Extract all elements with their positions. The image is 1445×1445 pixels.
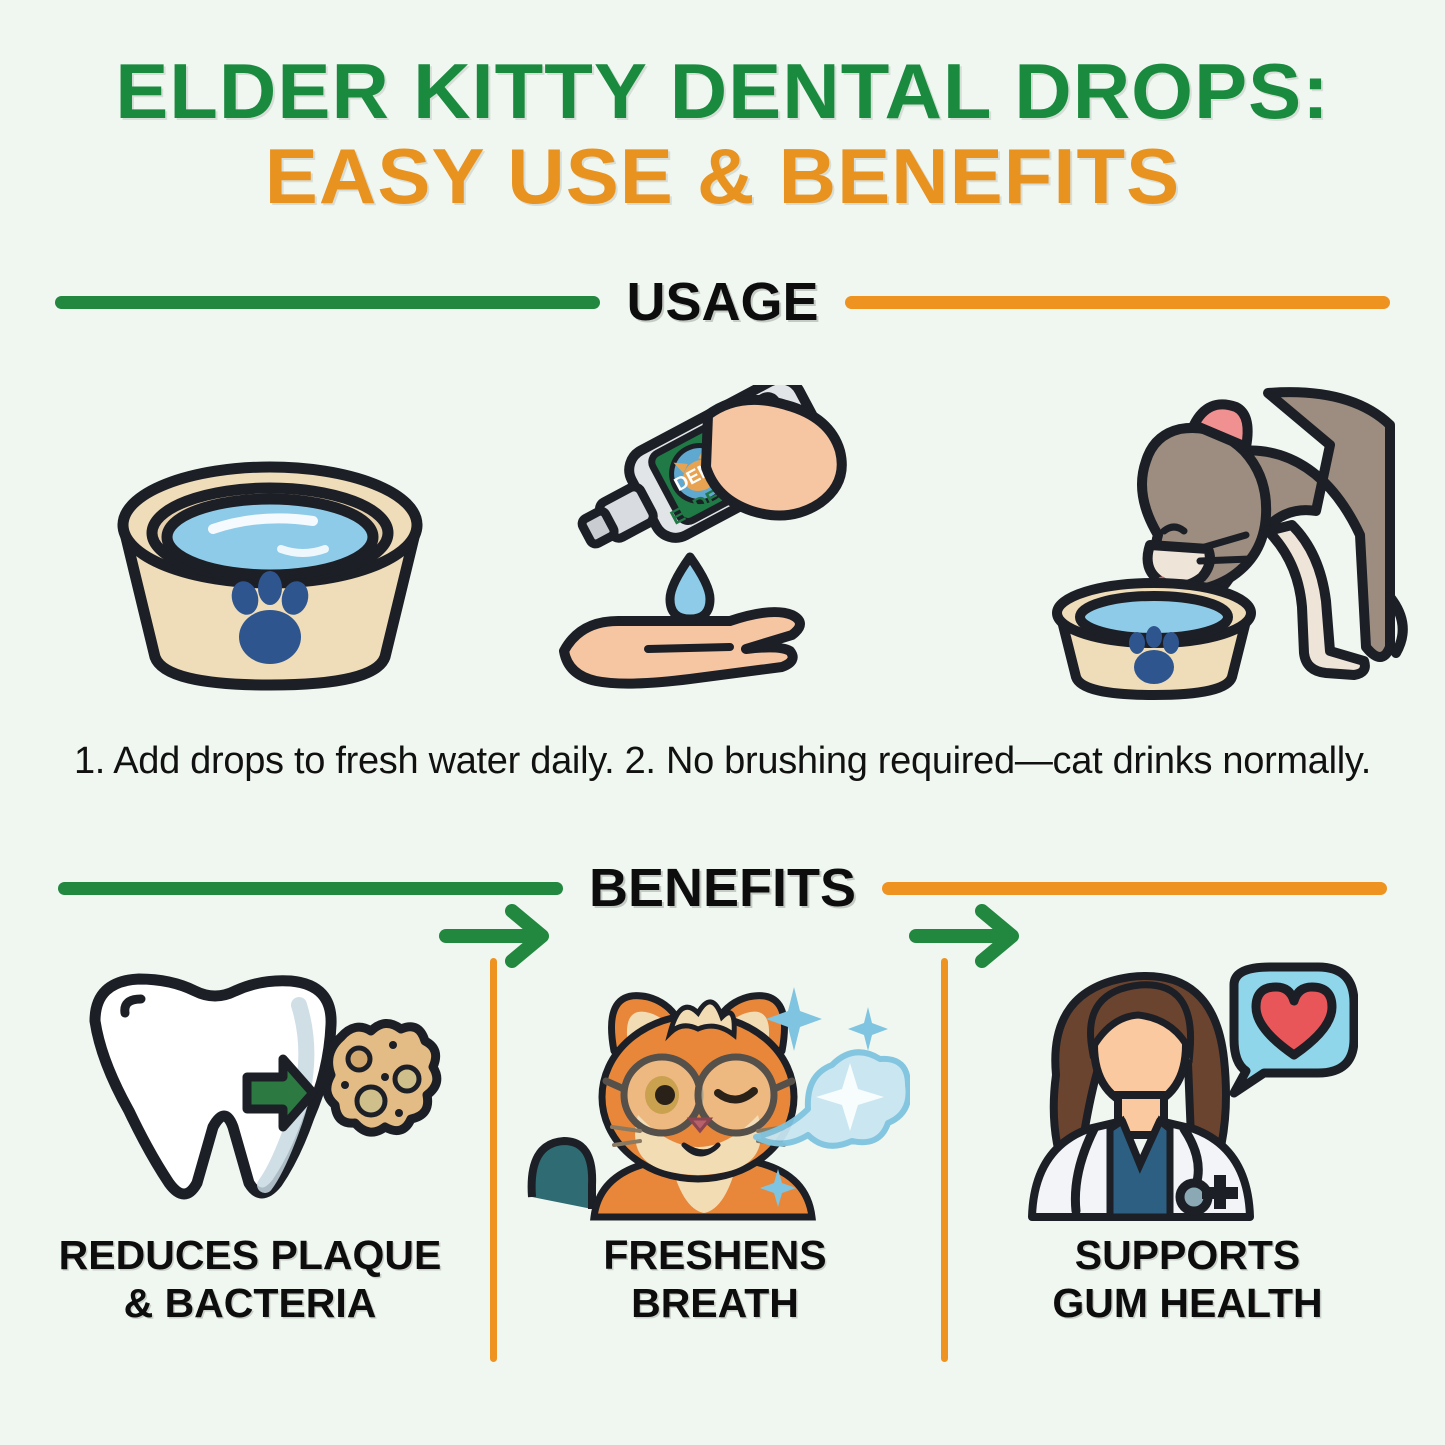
usage-rule-right [845,296,1390,309]
benefit-art-2 [520,955,910,1225]
benefit-freshens-breath: FRESHENS BREATH [500,955,930,1365]
usage-steps-row: DENTAL DROPS 30ml ELDER KITTY [0,385,1445,715]
benefits-rule-left [58,882,563,895]
open-palm-icon [564,612,800,683]
benefit-label-2: FRESHENS BREATH [603,1231,826,1328]
usage-step-cat-drinks [1030,385,1420,715]
benefit-reduces-plaque: REDUCES PLAQUE & BACTERIA [30,955,470,1365]
benefits-heading: BENEFITS [563,861,882,915]
usage-step-apply-drops: DENTAL DROPS 30ml ELDER KITTY [540,385,880,715]
benefit-label-1-line2: & BACTERIA [59,1279,442,1327]
benefit-label-2-line1: FRESHENS [603,1231,826,1279]
title-line-secondary: EASY USE & BENEFITS [0,130,1445,222]
cat-with-glasses-fresh-breath-icon [520,959,910,1221]
benefit-label-1-line1: REDUCES PLAQUE [59,1231,442,1279]
usage-rule-left [55,296,600,309]
usage-section-header: USAGE [0,272,1445,332]
benefit-label-2-line2: BREATH [603,1279,826,1327]
cat-drinking-from-bowl-illustration [1030,385,1420,715]
page-title: ELDER KITTY DENTAL DROPS: EASY USE & BEN… [0,52,1445,222]
benefits-rule-right [882,882,1387,895]
water-bowl-illustration [85,385,455,715]
usage-instructions-text: 1. Add drops to fresh water daily. 2. No… [0,740,1445,783]
heart-speech-bubble-icon [1234,967,1354,1093]
title-line-primary: ELDER KITTY DENTAL DROPS: [0,52,1445,130]
benefit-label-3-line1: SUPPORTS [1052,1231,1322,1279]
benefits-grid: REDUCES PLAQUE & BACTERIA [0,955,1445,1365]
hand-squeezing-bottle-illustration: DENTAL DROPS 30ml ELDER KITTY [540,385,880,715]
benefit-label-3: SUPPORTS GUM HEALTH [1052,1231,1322,1328]
water-droplet-icon [670,557,710,619]
usage-heading: USAGE [600,275,844,329]
benefit-art-3 [1018,955,1358,1225]
benefit-divider-1 [490,958,497,1362]
benefit-supports-gum-health: SUPPORTS GUM HEALTH [960,955,1415,1365]
benefit-label-3-line2: GUM HEALTH [1052,1279,1322,1327]
plaque-bacteria-blob [327,1023,437,1132]
benefit-label-1: REDUCES PLAQUE & BACTERIA [59,1231,442,1328]
benefits-section-header: BENEFITS [0,858,1445,918]
benefit-art-1 [55,955,445,1225]
benefit-divider-2 [941,958,948,1362]
usage-step-water-bowl [85,385,455,715]
tooth-to-plaque-icon [55,965,445,1215]
veterinarian-with-heart-icon [1018,959,1358,1221]
